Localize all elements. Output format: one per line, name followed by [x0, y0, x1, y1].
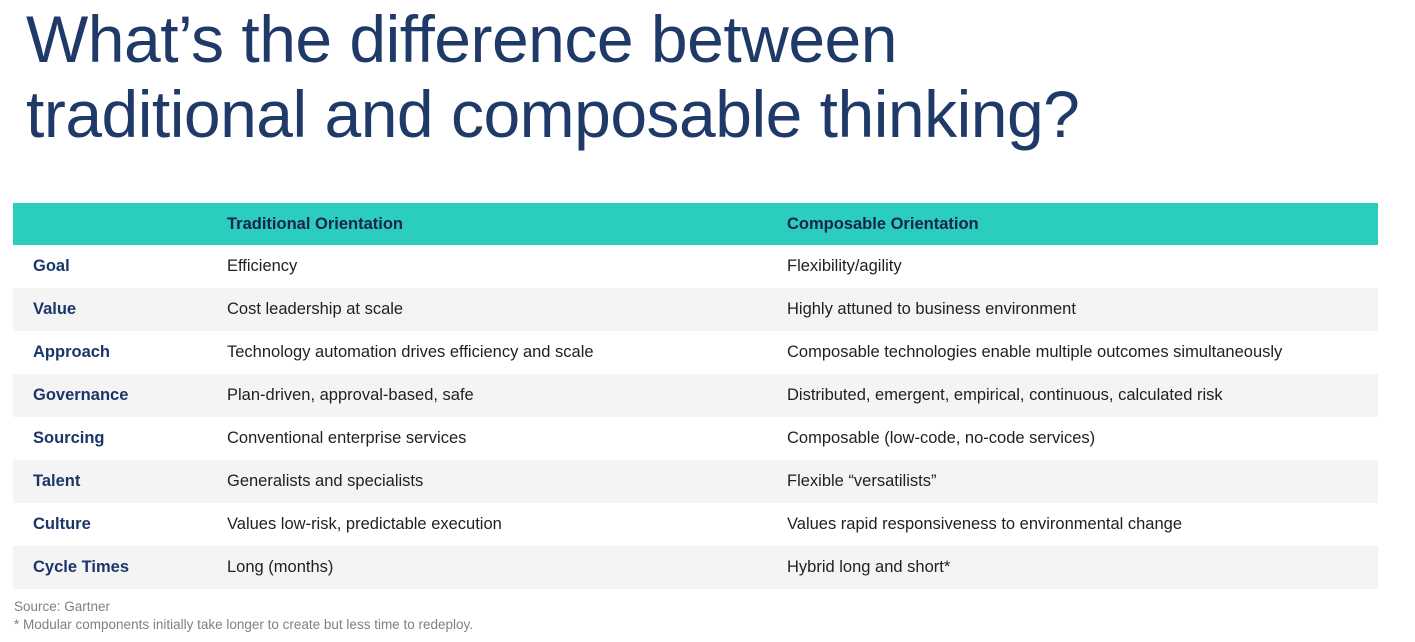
cell-composable: Distributed, emergent, empirical, contin… [780, 374, 1378, 417]
table-header-row: Traditional Orientation Composable Orien… [13, 203, 1378, 245]
cell-traditional: Cost leadership at scale [220, 288, 780, 331]
column-header-label [13, 203, 220, 245]
cell-composable: Composable technologies enable multiple … [780, 331, 1378, 374]
table-row: GoalEfficiencyFlexibility/agility [13, 245, 1378, 288]
column-header-composable: Composable Orientation [780, 203, 1378, 245]
comparison-table: Traditional Orientation Composable Orien… [13, 203, 1378, 589]
table-header: Traditional Orientation Composable Orien… [13, 203, 1378, 245]
row-label: Value [13, 288, 220, 331]
cell-traditional: Generalists and specialists [220, 460, 780, 503]
cell-traditional: Conventional enterprise services [220, 417, 780, 460]
comparison-table-container: Traditional Orientation Composable Orien… [13, 203, 1378, 589]
footnote-note: * Modular components initially take long… [14, 616, 473, 634]
table-row: ValueCost leadership at scaleHighly attu… [13, 288, 1378, 331]
row-label: Approach [13, 331, 220, 374]
cell-traditional: Long (months) [220, 546, 780, 589]
row-label: Goal [13, 245, 220, 288]
table-row: Cycle TimesLong (months)Hybrid long and … [13, 546, 1378, 589]
row-label: Talent [13, 460, 220, 503]
page-title: What’s the difference between traditiona… [26, 2, 1386, 152]
table-row: GovernancePlan-driven, approval-based, s… [13, 374, 1378, 417]
page-title-line-2: traditional and composable thinking? [26, 77, 1386, 152]
row-label: Sourcing [13, 417, 220, 460]
cell-composable: Flexible “versatilists” [780, 460, 1378, 503]
footnote: Source: Gartner * Modular components ini… [14, 598, 473, 634]
column-header-traditional: Traditional Orientation [220, 203, 780, 245]
row-label: Governance [13, 374, 220, 417]
table-row: ApproachTechnology automation drives eff… [13, 331, 1378, 374]
cell-traditional: Values low-risk, predictable execution [220, 503, 780, 546]
table-body: GoalEfficiencyFlexibility/agilityValueCo… [13, 245, 1378, 589]
cell-traditional: Efficiency [220, 245, 780, 288]
table-row: SourcingConventional enterprise services… [13, 417, 1378, 460]
cell-composable: Composable (low-code, no-code services) [780, 417, 1378, 460]
table-row: TalentGeneralists and specialistsFlexibl… [13, 460, 1378, 503]
cell-composable: Hybrid long and short* [780, 546, 1378, 589]
row-label: Cycle Times [13, 546, 220, 589]
row-label: Culture [13, 503, 220, 546]
cell-traditional: Technology automation drives efficiency … [220, 331, 780, 374]
cell-composable: Highly attuned to business environment [780, 288, 1378, 331]
table-row: CultureValues low-risk, predictable exec… [13, 503, 1378, 546]
cell-traditional: Plan-driven, approval-based, safe [220, 374, 780, 417]
slide-page: What’s the difference between traditiona… [0, 0, 1415, 642]
page-title-line-1: What’s the difference between [26, 2, 1386, 77]
cell-composable: Values rapid responsiveness to environme… [780, 503, 1378, 546]
cell-composable: Flexibility/agility [780, 245, 1378, 288]
footnote-source: Source: Gartner [14, 598, 473, 616]
